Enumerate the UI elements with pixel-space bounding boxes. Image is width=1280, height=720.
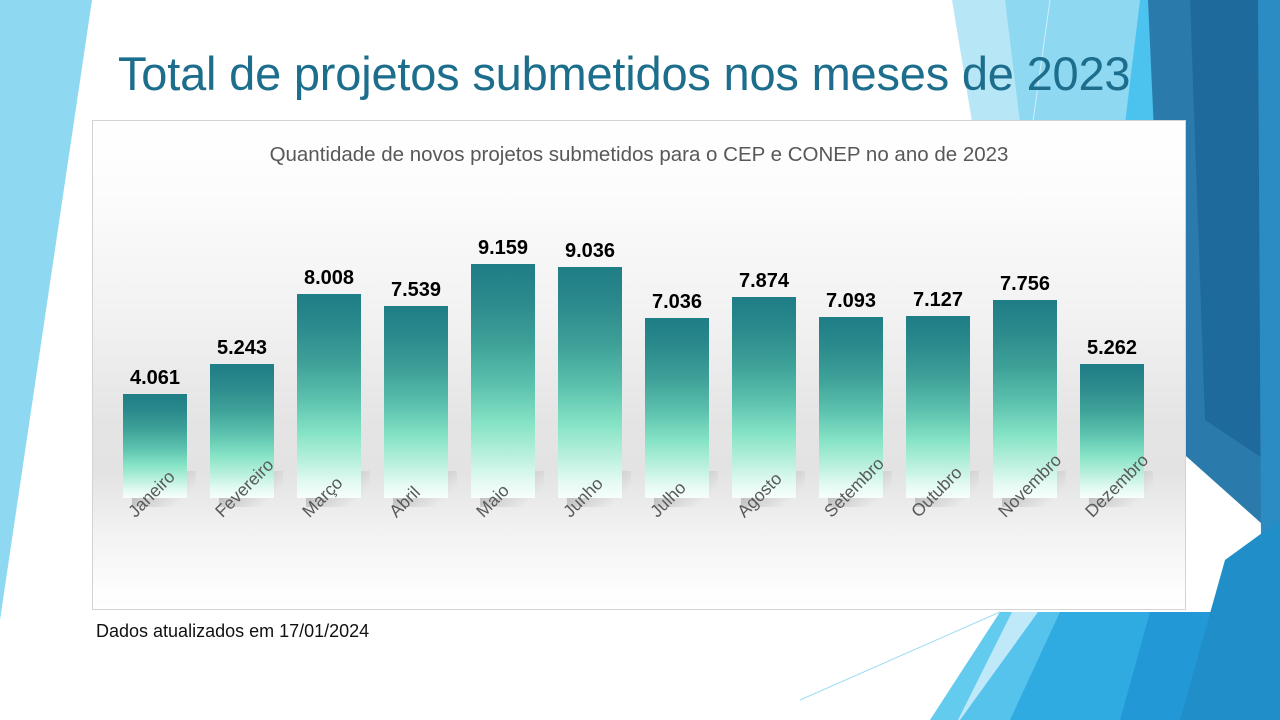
chart-bar-junho[interactable]: 9.036 [558, 267, 622, 498]
bar-value-label: 7.093 [806, 290, 896, 313]
chart-container: Quantidade de novos projetos submetidos … [92, 120, 1186, 610]
bar-rect [384, 306, 448, 498]
bar-value-label: 8.008 [284, 267, 374, 290]
bar-value-label: 7.127 [893, 289, 983, 312]
slide: Total de projetos submetidos nos meses d… [0, 0, 1280, 720]
bar-value-label: 7.756 [980, 273, 1070, 296]
chart-bar-abril[interactable]: 7.539 [384, 306, 448, 498]
chart-plot-area: 4.061Janeiro5.243Fevereiro8.008Março7.53… [93, 121, 1185, 609]
deco-left-wedge [0, 0, 92, 620]
footnote-text: Dados atualizados em 17/01/2024 [96, 621, 369, 642]
bar-rect [645, 318, 709, 498]
page-title: Total de projetos submetidos nos meses d… [118, 44, 1158, 104]
chart-bar-agosto[interactable]: 7.874 [732, 297, 796, 498]
bar-value-label: 7.539 [371, 279, 461, 302]
bar-rect [558, 267, 622, 498]
bar-value-label: 4.061 [110, 367, 200, 390]
chart-bar-março[interactable]: 8.008 [297, 294, 361, 498]
bar-rect [297, 294, 361, 498]
chart-bar-maio[interactable]: 9.159 [471, 264, 535, 498]
bar-rect [732, 297, 796, 498]
bar-value-label: 7.874 [719, 270, 809, 293]
chart-bar-julho[interactable]: 7.036 [645, 318, 709, 498]
bar-rect [471, 264, 535, 498]
bar-value-label: 7.036 [632, 291, 722, 314]
bar-value-label: 9.036 [545, 240, 635, 263]
bar-value-label: 5.243 [197, 337, 287, 360]
bar-value-label: 5.262 [1067, 337, 1157, 360]
bar-value-label: 9.159 [458, 237, 548, 260]
